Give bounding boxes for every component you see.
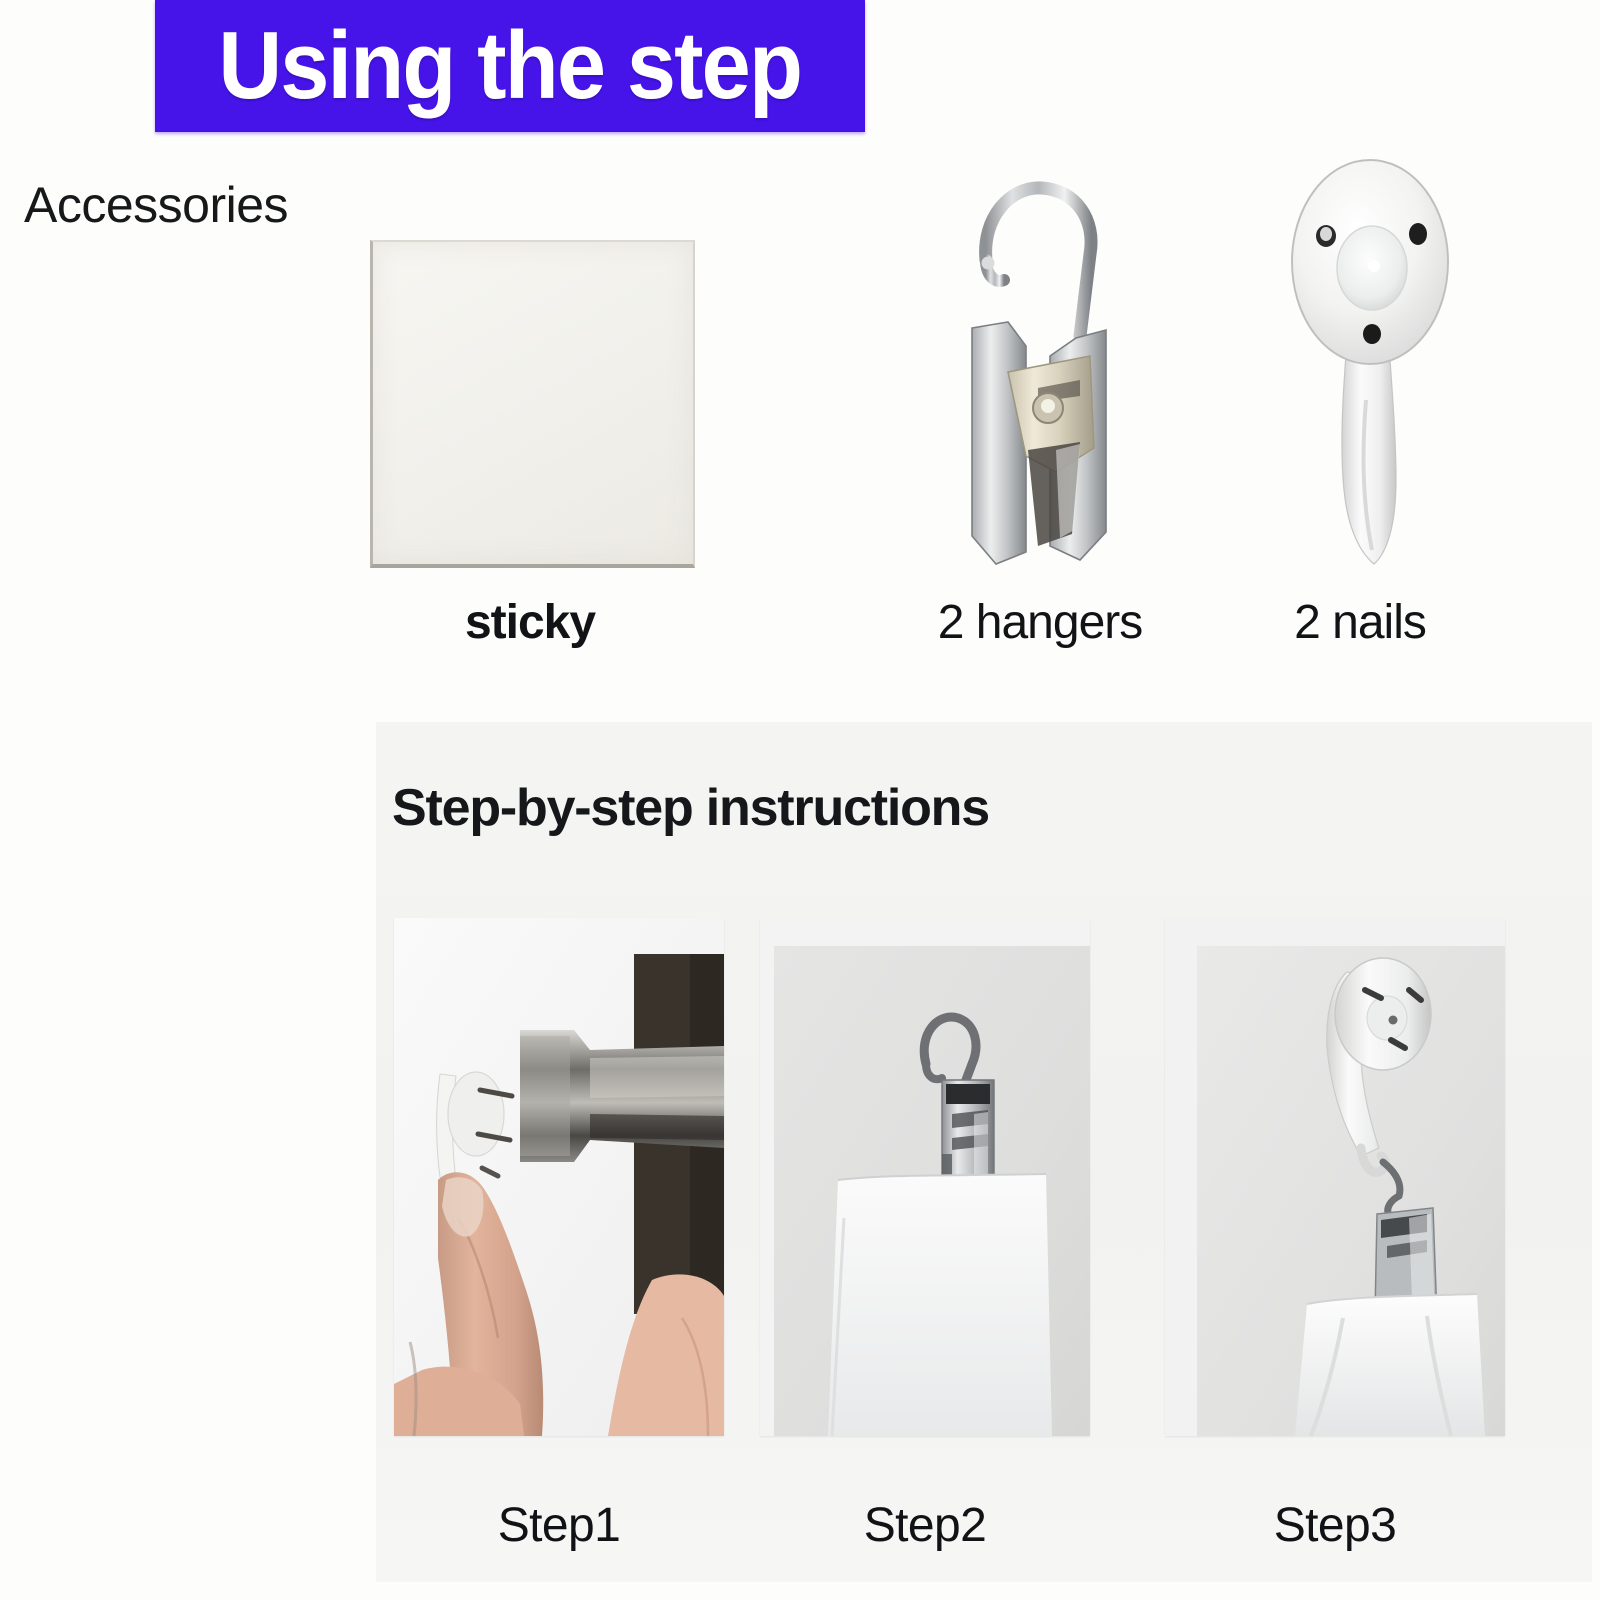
step-caption-3: Step3 (1165, 1498, 1505, 1553)
sticky-pad-icon (370, 240, 695, 568)
step-photo-1 (394, 918, 724, 1436)
instructions-heading: Step-by-step instructions (392, 778, 989, 838)
accessories-heading: Accessories (24, 176, 288, 234)
accessory-label-hangers: 2 hangers (880, 595, 1200, 650)
product-instruction-graphic: Using the step Accessories sticky (0, 0, 1600, 1600)
step-caption-1: Step1 (394, 1498, 724, 1553)
step-caption-2: Step2 (760, 1498, 1090, 1553)
step-photo-2 (760, 918, 1090, 1436)
step-photo-3 (1165, 918, 1505, 1436)
accessory-label-sticky: sticky (370, 595, 690, 650)
accessory-label-nails: 2 nails (1230, 595, 1490, 650)
title-banner: Using the step (155, 0, 865, 132)
clip-hanger-icon (930, 150, 1130, 570)
wall-hook-nail-icon (1262, 150, 1482, 570)
page-title: Using the step (219, 18, 802, 114)
